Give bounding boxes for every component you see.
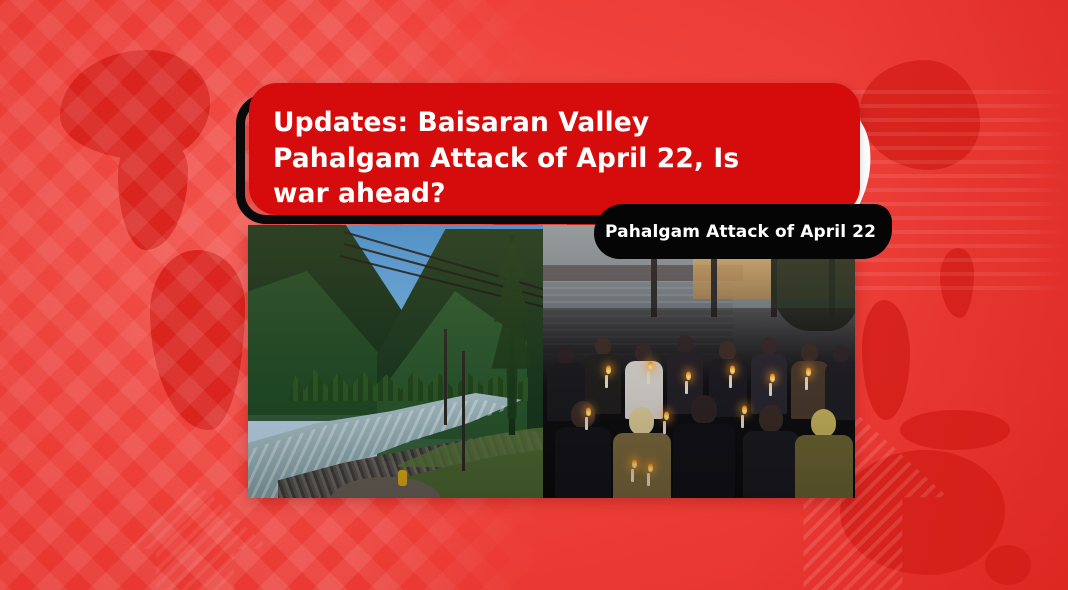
crowd-head [719,341,736,360]
candle [805,377,808,390]
photo-strip [248,225,855,498]
candle-flame [632,459,637,468]
crowd-body [743,431,799,498]
page-title: Updates: Baisaran Valley Pahalgam Attack… [273,105,798,212]
candle [585,417,588,430]
candle [647,371,650,384]
crowd-head [691,395,717,424]
candle [769,383,772,396]
utility-pole-1 [444,329,447,425]
candle-flame [648,361,653,370]
candle [605,375,608,388]
candlelight-vigil-photo [543,225,855,498]
baisaran-valley-photo [248,225,543,498]
crowd-head [635,343,652,362]
crowd-body [613,433,671,498]
crowd-head [759,405,783,432]
crowd-body [673,423,735,498]
crowd-head-headscarf [629,407,654,435]
news-banner-graphic: Updates: Baisaran Valley Pahalgam Attack… [0,0,1068,590]
candle-flame [606,365,611,374]
crowd-head [761,337,777,355]
candle-flame [742,405,747,414]
candle-flame [770,373,775,382]
crowd-head [833,345,849,363]
utility-pole-2 [462,351,465,471]
crowd-head-headscarf [811,409,836,437]
crowd-body [795,435,853,498]
candle-flame [664,411,669,420]
candle-flame [648,463,653,472]
candle-flame [586,407,591,416]
crowd-head [595,337,611,355]
subtitle-label: Pahalgam Attack of April 22 [594,204,892,259]
crowd-body [555,427,611,498]
crowd-head [677,335,693,353]
candle [729,375,732,388]
candle [741,415,744,428]
person-in-yellow [398,470,407,486]
headline-card: Updates: Baisaran Valley Pahalgam Attack… [249,83,860,215]
candle [663,421,666,434]
candle-flame [806,367,811,376]
crowd-head [557,345,574,364]
crowd-head [571,401,595,428]
crowd-head [801,343,818,362]
candle [685,381,688,394]
candle-flame [686,371,691,380]
candle-flame [730,365,735,374]
candle [647,473,650,486]
subtitle-badge: Pahalgam Attack of April 22 [594,204,892,259]
candle [631,469,634,482]
